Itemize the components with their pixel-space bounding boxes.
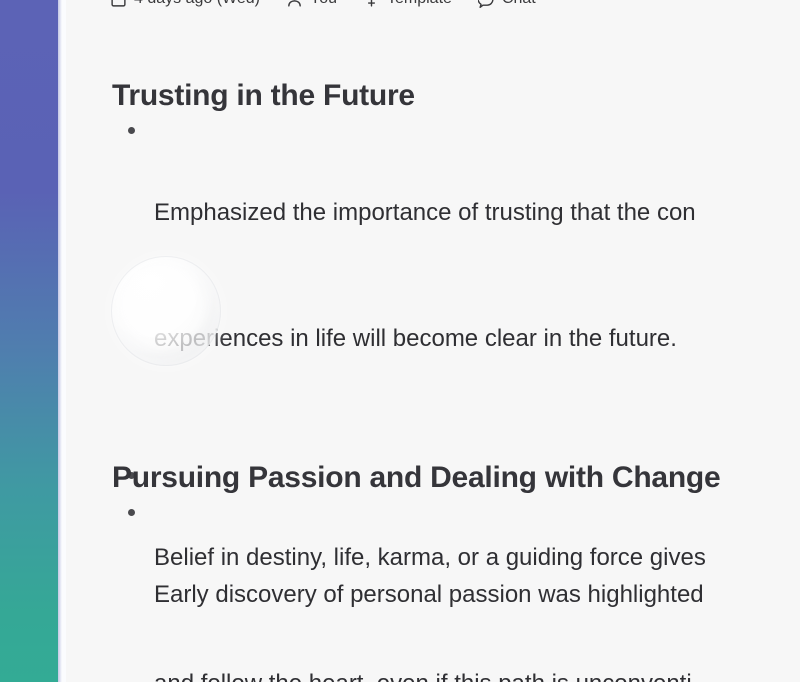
- bullet-line: Early discovery of personal passion was …: [154, 574, 800, 616]
- calendar-icon: [110, 0, 127, 8]
- left-gradient-rail: [0, 0, 58, 682]
- meta-chip-date-label: 4 days ago (Wed): [134, 0, 260, 8]
- bullet-list-passion: Early discovery of personal passion was …: [112, 490, 800, 682]
- meta-chip-template-label: Template: [387, 0, 452, 8]
- note-meta-row: 4 days ago (Wed) You: [110, 0, 536, 12]
- app-root: 4 days ago (Wed) You: [0, 0, 800, 682]
- meta-chip-author-label: You: [310, 0, 337, 8]
- template-icon: [363, 0, 380, 8]
- rail-edge-shadow: [58, 0, 62, 682]
- bullet-line: experiences in life will become clear in…: [154, 318, 800, 360]
- meta-chip-chat[interactable]: Chat: [478, 0, 536, 8]
- meta-chip-template[interactable]: Template: [363, 0, 452, 8]
- list-item[interactable]: Early discovery of personal passion was …: [112, 490, 800, 682]
- bullet-line: Emphasized the importance of trusting th…: [154, 192, 800, 234]
- meta-chip-author[interactable]: You: [286, 0, 337, 8]
- chat-icon: [478, 0, 495, 8]
- meta-chip-chat-label: Chat: [502, 0, 536, 8]
- person-icon: [286, 0, 303, 8]
- document-panel[interactable]: 4 days ago (Wed) You: [66, 0, 800, 682]
- meta-chip-date[interactable]: 4 days ago (Wed): [110, 0, 260, 8]
- list-item[interactable]: Emphasized the importance of trusting th…: [112, 108, 800, 444]
